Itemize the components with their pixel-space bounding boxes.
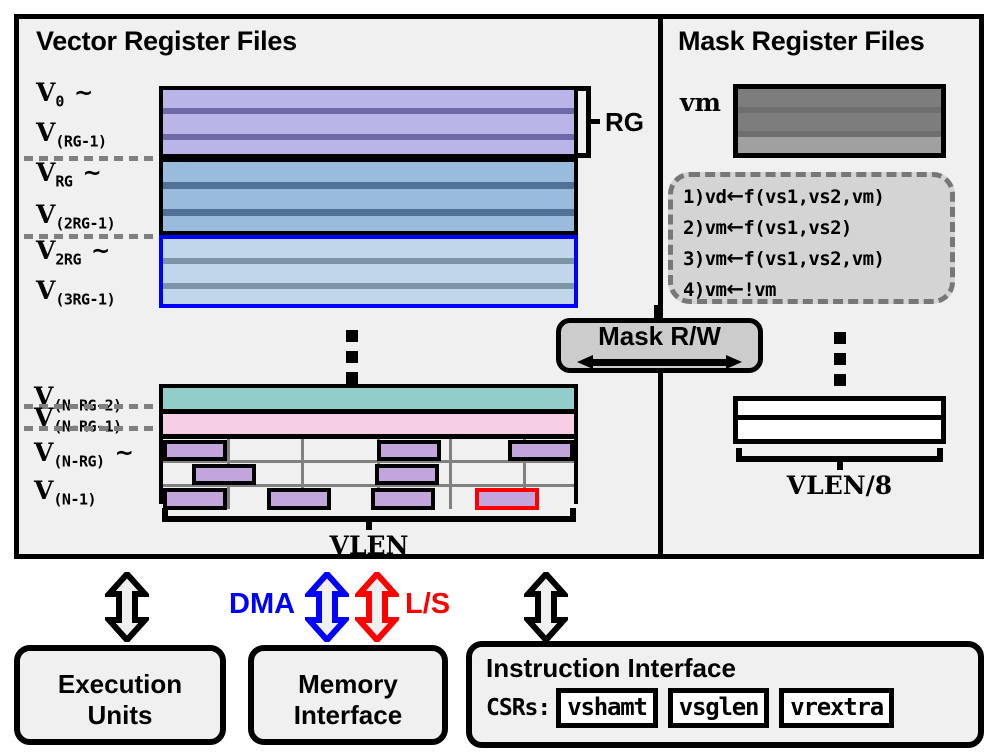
register-label-v0: V0~ (36, 80, 93, 109)
vlen-label: VLEN (162, 531, 576, 560)
memory-interface-box[interactable]: Memory Interface (248, 645, 448, 745)
element-row-3 (163, 487, 574, 509)
vector-element[interactable] (377, 440, 441, 461)
rg-brace (578, 86, 600, 158)
vector-element-highlighted[interactable] (475, 488, 539, 510)
instruction-item: 3)vm←f(vs1,vs2,vm) (683, 243, 950, 274)
mask-rw-box[interactable]: Mask R/W (556, 318, 763, 373)
load-store-label: L/S (405, 588, 450, 621)
vector-element[interactable] (375, 464, 439, 485)
csr-vshamt[interactable]: vshamt (556, 688, 658, 728)
register-label-vn-rg: V(N-RG)~ (34, 440, 134, 469)
execution-units-arrow-icon (105, 572, 149, 642)
pink-register-row (163, 414, 574, 434)
csr-vrextra[interactable]: vrextra (779, 688, 894, 728)
instruction-item: 4)vm←!vm (683, 274, 950, 305)
element-row-1 (163, 439, 574, 460)
vector-element[interactable] (508, 440, 574, 461)
register-group-2[interactable] (159, 158, 578, 235)
instruction-item: 2)vm←f(vs1,vs2) (683, 212, 950, 243)
vm-register-block[interactable] (733, 84, 946, 158)
register-label-v2rg: V2RG~ (36, 238, 110, 267)
execution-units-label-line1: Execution (20, 669, 220, 700)
execution-units-box[interactable]: Execution Units (14, 645, 226, 745)
register-label-v3rg-minus-1: V(3RG-1) (36, 278, 115, 307)
vector-element[interactable] (371, 488, 435, 510)
vm-register-label: vm (680, 88, 721, 117)
bidirectional-arrow-icon (577, 355, 742, 369)
dma-label: DMA (229, 588, 295, 621)
memory-interface-label-line2: Interface (254, 700, 442, 731)
panel-divider (658, 19, 663, 554)
register-group-last[interactable] (159, 384, 578, 504)
instruction-interface-title: Instruction Interface (486, 653, 978, 684)
csr-vsglen[interactable]: vsglen (668, 688, 770, 728)
register-label-vrg: VRG~ (36, 160, 102, 189)
vertical-ellipsis-right (834, 332, 846, 386)
vertical-ellipsis-left (346, 330, 358, 384)
register-label-v2rg-minus-1: V(2RG-1) (36, 202, 115, 231)
teal-register-row (163, 388, 574, 409)
vector-element[interactable] (267, 488, 331, 510)
mask-register-empty-block[interactable] (733, 396, 946, 444)
dma-arrow-icon (305, 572, 349, 642)
group-separator-4 (24, 426, 156, 431)
rg-bracket-label: RG (605, 107, 644, 138)
vlen8-brace (736, 448, 943, 472)
register-label-vrg-minus-1: V(RG-1) (36, 120, 107, 149)
vlen-brace (162, 508, 576, 532)
vector-element[interactable] (163, 488, 227, 510)
mask-instruction-list: 1)vd←f(vs1,vs2,vm) 2)vm←f(vs1,vs2) 3)vm←… (668, 172, 955, 304)
csr-label: CSRs: (486, 695, 550, 721)
vector-register-files-title: Vector Register Files (36, 26, 297, 57)
memory-interface-label-line1: Memory (254, 669, 442, 700)
mask-register-files-title: Mask Register Files (678, 26, 924, 57)
vector-element[interactable] (163, 440, 227, 461)
register-label-vn-minus-1: V(N-1) (34, 478, 96, 507)
vlen8-label: VLEN/8 (736, 471, 943, 500)
register-group-3-selected[interactable] (159, 235, 578, 308)
csr-row: CSRs: vshamt vsglen vrextra (486, 688, 978, 728)
element-row-2 (163, 463, 574, 484)
diagram-root: Vector Register Files Mask Register File… (0, 0, 998, 755)
mask-rw-label: Mask R/W (561, 321, 758, 352)
load-store-arrow-icon (355, 572, 399, 642)
register-group-1[interactable] (159, 86, 578, 158)
instruction-item: 1)vd←f(vs1,vs2,vm) (683, 181, 950, 212)
instruction-interface-box[interactable]: Instruction Interface CSRs: vshamt vsgle… (466, 641, 984, 748)
instruction-interface-arrow-icon (524, 572, 568, 642)
vector-element[interactable] (192, 464, 256, 485)
execution-units-label-line2: Units (20, 700, 220, 731)
